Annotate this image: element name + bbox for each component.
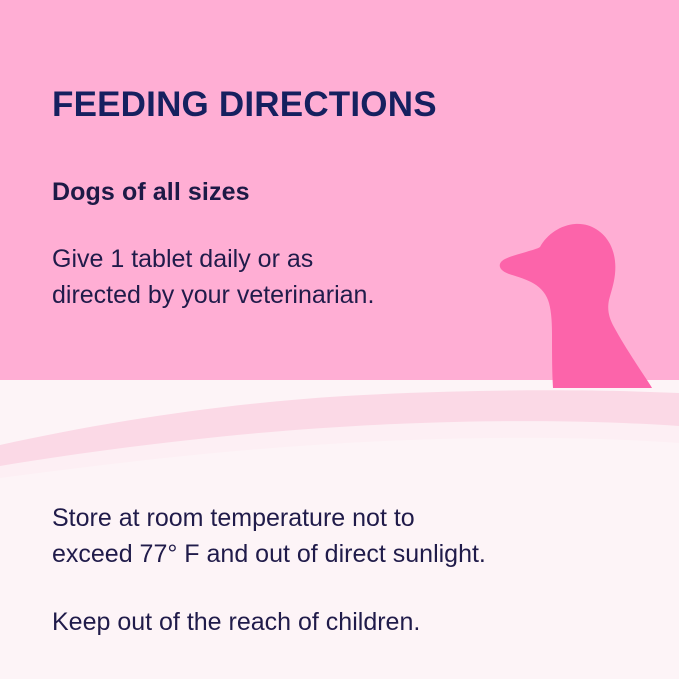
storage-line-1: Store at room temperature not to xyxy=(52,500,632,536)
dosage-subheading: Dogs of all sizes xyxy=(52,177,250,207)
child-safety-warning: Keep out of the reach of children. xyxy=(52,604,632,640)
dosage-instructions: Give 1 tablet daily or as directed by yo… xyxy=(52,241,512,313)
storage-line-2: exceed 77° F and out of direct sunlight. xyxy=(52,536,632,572)
feeding-directions-panel: FEEDING DIRECTIONS Dogs of all sizes Giv… xyxy=(0,0,679,679)
storage-instructions: Store at room temperature not to exceed … xyxy=(52,500,632,572)
page-title: FEEDING DIRECTIONS xyxy=(52,84,437,125)
panel-content: FEEDING DIRECTIONS Dogs of all sizes Giv… xyxy=(0,0,679,679)
child-safety-line-1: Keep out of the reach of children. xyxy=(52,604,632,640)
dosage-line-1: Give 1 tablet daily or as xyxy=(52,241,512,277)
dosage-line-2: directed by your veterinarian. xyxy=(52,277,512,313)
